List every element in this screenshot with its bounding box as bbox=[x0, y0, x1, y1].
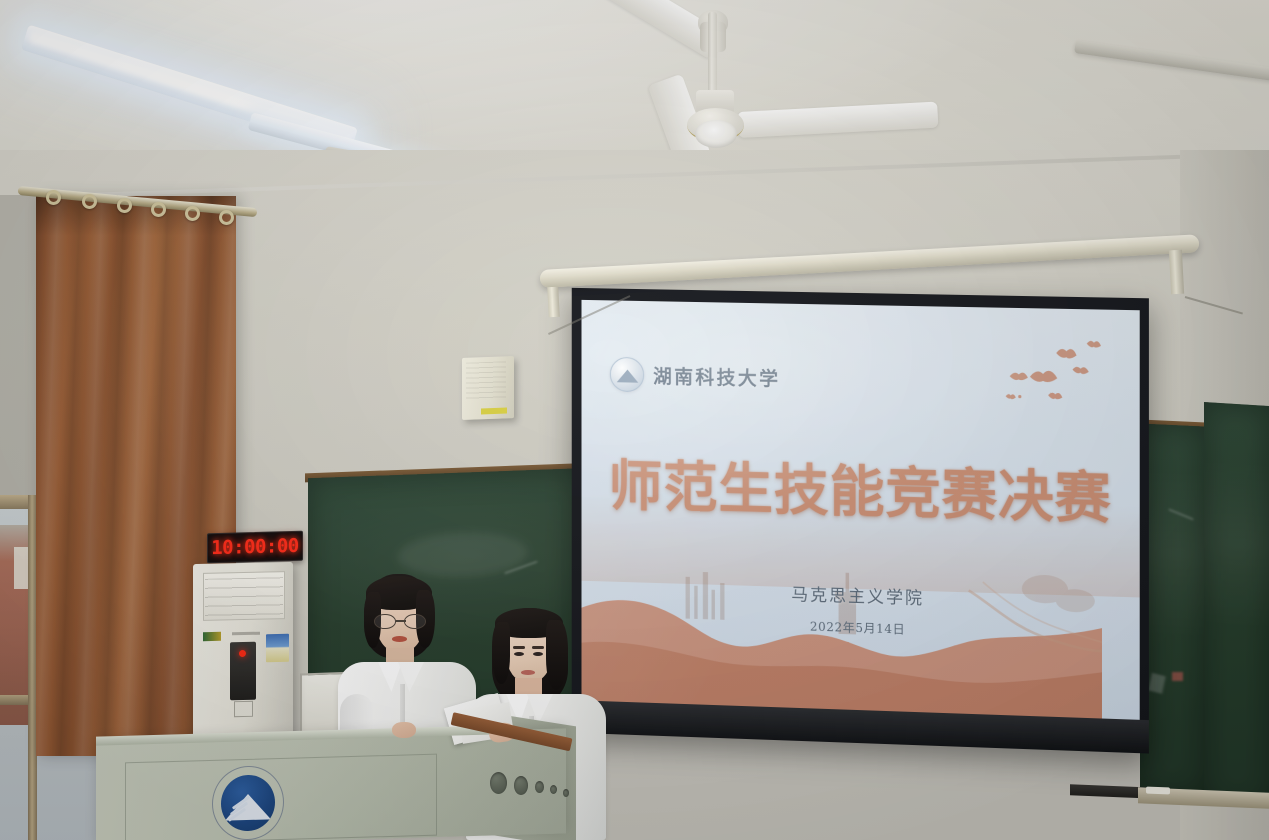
clock-time-display: 10:00:00 bbox=[211, 535, 299, 559]
hand-left-presenter bbox=[392, 722, 416, 738]
lips bbox=[392, 636, 407, 642]
blackboard-far-right bbox=[1204, 402, 1269, 806]
podium-hole bbox=[514, 776, 528, 795]
hair-side bbox=[492, 622, 510, 684]
podium-hole bbox=[550, 785, 557, 794]
red-chalk-mark bbox=[1172, 672, 1183, 681]
lens-right bbox=[404, 614, 426, 629]
eyebrow-right bbox=[532, 646, 544, 649]
curtain-grommet bbox=[219, 210, 234, 225]
ac-brand-logo bbox=[203, 632, 221, 641]
eye-right bbox=[533, 652, 543, 656]
ac-badge bbox=[234, 701, 253, 717]
slide-department: 马克思主义学院 bbox=[791, 580, 924, 609]
birds-decoration-icon bbox=[986, 336, 1123, 425]
curtain-grommet bbox=[82, 194, 97, 209]
lens-left bbox=[374, 614, 396, 629]
fan-light-dome bbox=[695, 120, 737, 148]
podium-university-logo-icon bbox=[212, 765, 284, 840]
digital-clock: 10:00:00 bbox=[207, 531, 303, 564]
university-logo-icon bbox=[610, 357, 644, 392]
fan-blade bbox=[737, 102, 938, 138]
eye-left bbox=[514, 652, 524, 656]
podium-hole bbox=[490, 772, 507, 794]
screen-bracket bbox=[1169, 250, 1184, 295]
ac-energy-label bbox=[266, 634, 289, 662]
curtain-grommet bbox=[117, 198, 132, 213]
speaker-label bbox=[481, 408, 507, 415]
university-name: 湖南科技大学 bbox=[653, 361, 780, 391]
slide-date: 2022年5月14日 bbox=[810, 617, 905, 637]
ac-brand-text bbox=[232, 632, 260, 636]
blackboard-right bbox=[1140, 424, 1204, 795]
lips bbox=[521, 670, 535, 675]
chalk-stick bbox=[1146, 787, 1170, 795]
fan-downrod bbox=[708, 12, 717, 94]
eyeglasses-icon bbox=[372, 614, 430, 630]
projected-slide: 湖南科技大学 师范生技能竞赛决赛 马克思主义学院 2022年5月14日 bbox=[581, 300, 1139, 720]
slide-main-title: 师范生技能竞赛决赛 bbox=[608, 441, 1111, 534]
curtain-grommet bbox=[185, 206, 200, 221]
ac-vent-louvers bbox=[205, 577, 283, 617]
projector-screen: 湖南科技大学 师范生技能竞赛决赛 马克思主义学院 2022年5月14日 bbox=[572, 288, 1149, 754]
classroom-photo: 10:00:00 bbox=[0, 0, 1269, 840]
slide-university-branding: 湖南科技大学 bbox=[610, 357, 781, 395]
eyebrow-left bbox=[513, 646, 525, 649]
speaker-grill bbox=[466, 361, 506, 400]
ceiling-fan bbox=[620, 8, 950, 168]
screen-bracket bbox=[547, 287, 560, 318]
curtain-grommet bbox=[46, 190, 61, 205]
podium-hole bbox=[535, 781, 544, 793]
glasses-bridge bbox=[396, 620, 406, 622]
curtain-grommet bbox=[151, 202, 166, 217]
podium-hole bbox=[563, 789, 569, 797]
chalk-mark bbox=[1168, 508, 1193, 520]
chalk-mark bbox=[1148, 673, 1165, 694]
